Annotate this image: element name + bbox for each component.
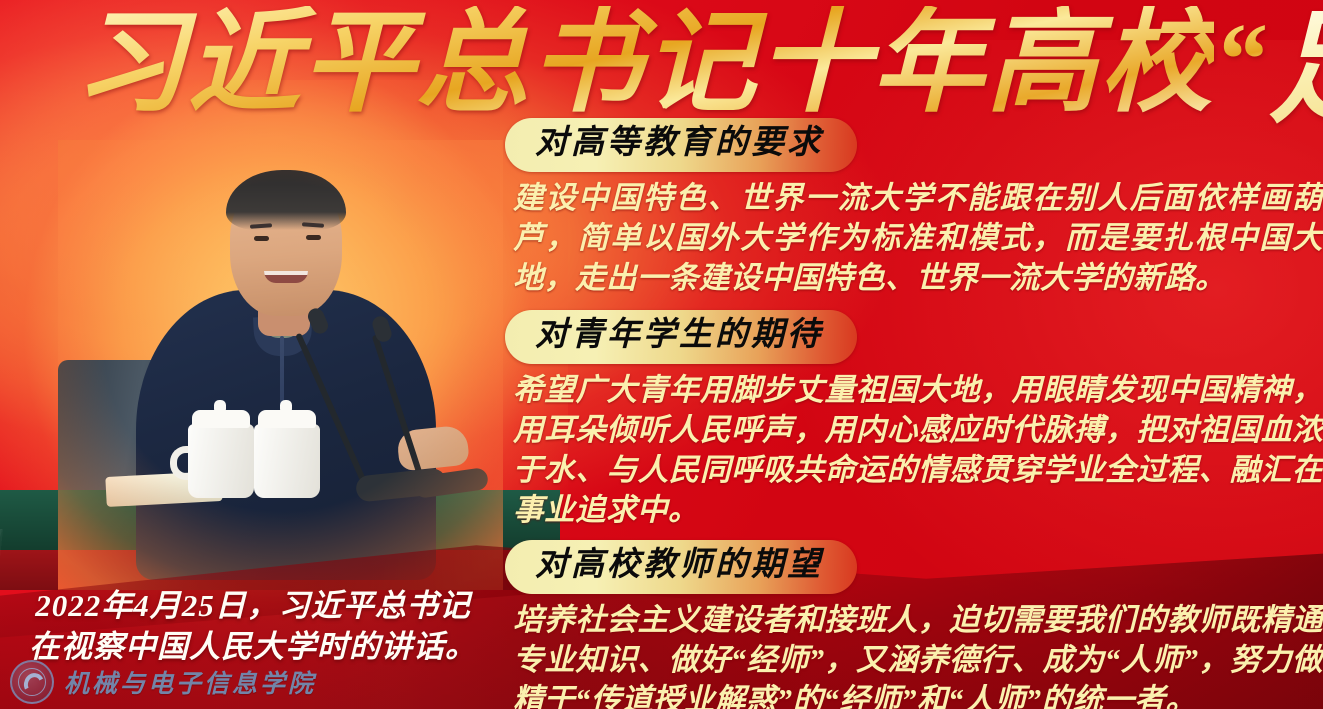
section-body-text: 建设中国特色、世界一流大学不能跟在别人后面依样画葫芦，简单以国外大学作为标准和模… (513, 178, 1323, 298)
section-university-teachers: 对高校教师的期望 培养社会主义建设者和接班人，迫切需要我们的教师既精通专业知识、… (505, 540, 1323, 709)
footer-branding: 机械与电子信息学院 (10, 660, 316, 704)
page-title: 习近平总书记十年高校 “ 足迹 ” (74, 6, 1323, 135)
figure-eye-left (254, 236, 269, 241)
section-heading-pill: 对青年学生的期待 (505, 310, 857, 364)
poster-root: 习近平总书记十年高校 “ 足迹 ” 对高等教育的要求 建设中国特色、世界一流大学… (0, 0, 1323, 709)
teacup-1 (188, 424, 254, 498)
school-emblem-icon (10, 660, 54, 704)
section-heading-label: 对青年学生的期待 (535, 317, 823, 353)
title-quote-open: “ (1214, 6, 1268, 114)
caption-line-1: 2022年4月25日，习近平总书记 (18, 585, 488, 626)
content-column: 对高等教育的要求 建设中国特色、世界一流大学不能跟在别人后面依样画葫芦，简单以国… (505, 118, 1323, 709)
photo-scene (58, 140, 503, 590)
organization-name: 机械与电子信息学院 (64, 664, 316, 700)
figure-mouth (264, 271, 308, 283)
section-young-students: 对青年学生的期待 希望广大青年用脚步丈量祖国大地，用眼睛发现中国精神，用耳朵倾听… (505, 310, 1323, 530)
section-body-text: 培养社会主义建设者和接班人，迫切需要我们的教师既精通专业知识、做好“经师”，又涵… (513, 600, 1323, 709)
section-heading-pill: 对高校教师的期望 (505, 540, 857, 594)
section-heading-label: 对高校教师的期望 (535, 547, 823, 583)
leader-photo (58, 140, 503, 590)
figure-hair (226, 170, 346, 230)
figure-eye-right (306, 235, 321, 240)
photo-caption: 2022年4月25日，习近平总书记 在视察中国人民大学时的讲话。 (18, 585, 488, 667)
section-higher-education: 对高等教育的要求 建设中国特色、世界一流大学不能跟在别人后面依样画葫芦，简单以国… (505, 118, 1323, 298)
teacup-2 (254, 424, 320, 498)
title-highlight-text: 足迹 (1268, 6, 1323, 135)
title-main-text: 习近平总书记十年高校 (74, 6, 1214, 122)
section-body-text: 希望广大青年用脚步丈量祖国大地，用眼睛发现中国精神，用耳朵倾听人民呼声，用内心感… (513, 370, 1323, 530)
